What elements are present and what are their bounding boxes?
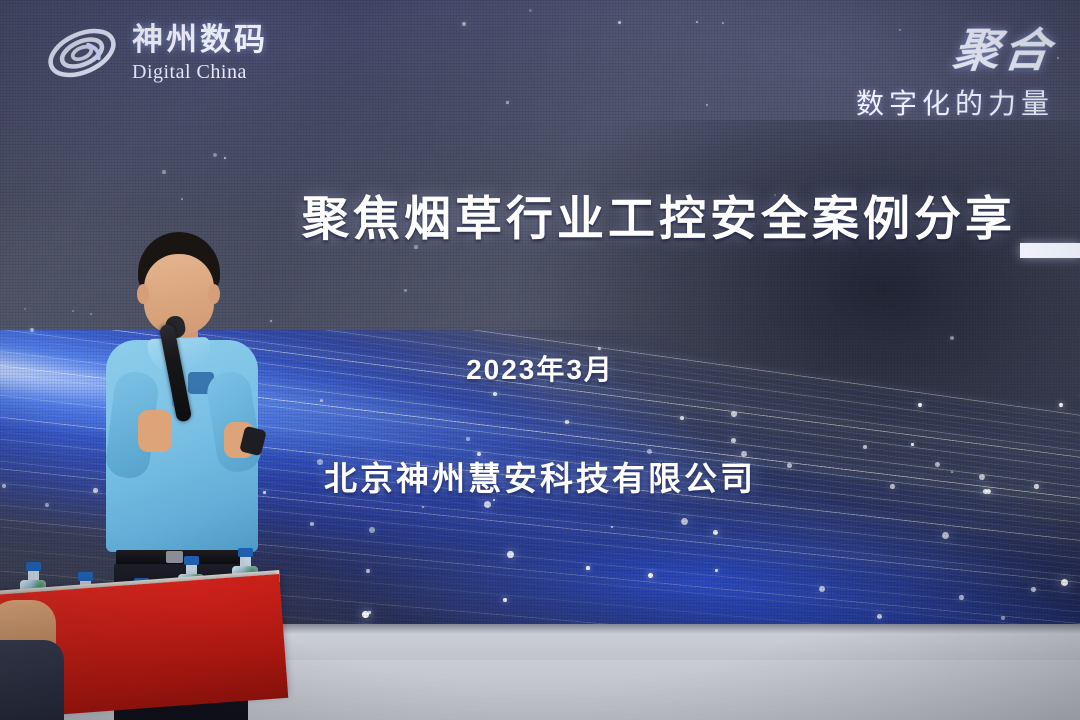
- speaker-ear-left: [137, 284, 149, 304]
- bottle-neck: [240, 557, 251, 566]
- digital-china-swirl-icon: [44, 22, 120, 84]
- bottle-cap: [26, 562, 41, 571]
- event-calligraphy: 聚合: [950, 14, 1058, 80]
- digital-china-name-en: Digital China: [132, 62, 268, 82]
- digital-china-name-cn: 神州数码: [132, 24, 268, 55]
- presentation-clicker-icon: [239, 426, 267, 457]
- bottle-cap: [78, 572, 93, 581]
- slide-title: 聚焦烟草行业工控安全案例分享: [302, 180, 1022, 249]
- bottle-cap: [238, 548, 253, 557]
- digital-china-logo: 神州数码 Digital China: [44, 22, 268, 84]
- speaker-ear-right: [208, 284, 220, 304]
- bottle-cap: [184, 556, 199, 565]
- speaker-hand-left: [138, 410, 172, 452]
- screen-white-bar: [1020, 243, 1080, 258]
- seated-person-body: [0, 640, 64, 720]
- bottle-neck: [28, 571, 39, 580]
- event-subtitle: 数字化的力量: [856, 82, 1054, 122]
- conference-photo: 神州数码 Digital China 聚合 数字化的力量 聚焦烟草行业工控安全案…: [0, 0, 1080, 720]
- bottle-neck: [186, 565, 197, 574]
- event-brand: 聚合 数字化的力量: [856, 14, 1054, 122]
